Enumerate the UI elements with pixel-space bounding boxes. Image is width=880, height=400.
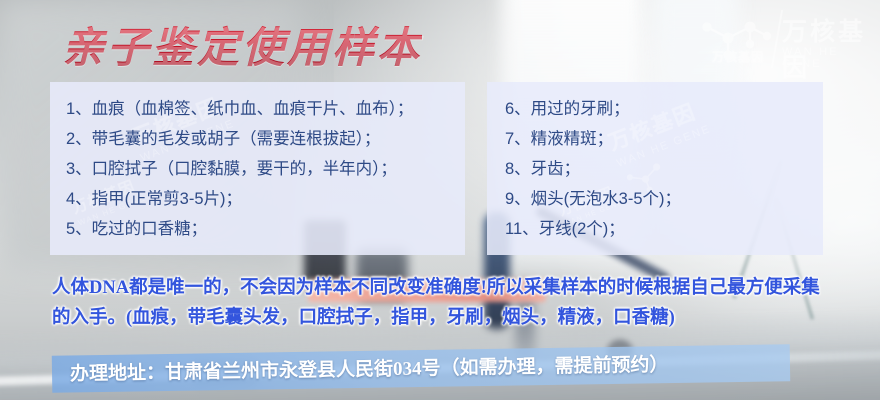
sample-list-left: 1、血痕（血棉签、纸巾血、血痕干片、血布）； 2、带毛囊的毛发或胡子（需要连根拔…: [50, 82, 465, 244]
paragraph-line-2: 的入手。(血痕，带毛囊头发，口腔拭子，指甲，牙刷，烟头，精液，口香糖): [52, 303, 842, 333]
list-item: 3、口腔拭子（口腔黏膜，要干的，半年内）；: [66, 154, 465, 184]
sample-list-right: 6、用过的牙刷； 7、精液精斑； 8、牙齿； 9、烟头(无泡水3-5个)； 11…: [487, 82, 823, 244]
explanation-paragraph: 人体DNA都是唯一的，不会因为样本不同改变准确度!所以采集样本的时候根据自己最方…: [52, 273, 842, 333]
list-item: 5、吃过的口香糖；: [66, 214, 465, 244]
paragraph-line-1: 人体DNA都是唯一的，不会因为样本不同改变准确度!所以采集样本的时候根据自己最方…: [52, 273, 842, 303]
list-item: 1、血痕（血棉签、纸巾血、血痕干片、血布）；: [66, 94, 465, 124]
list-item: 2、带毛囊的毛发或胡子（需要连根拔起）；: [66, 124, 465, 154]
list-item: 8、牙齿；: [505, 154, 823, 184]
sample-list-panel-right: 6、用过的牙刷； 7、精液精斑； 8、牙齿； 9、烟头(无泡水3-5个)； 11…: [487, 82, 823, 255]
page-title: 亲子鉴定使用样本: [62, 14, 422, 75]
sample-list-panel-left: 1、血痕（血棉签、纸巾血、血痕干片、血布）； 2、带毛囊的毛发或胡子（需要连根拔…: [50, 82, 465, 255]
list-item: 4、指甲(正常剪3-5片)；: [66, 184, 465, 214]
poster-canvas: 万核基因 万核基因 WAN HE GENE 亲子鉴定使用样本 1、血痕（血棉签、…: [0, 0, 880, 400]
list-item: 11、牙线(2个)；: [505, 214, 823, 244]
list-item: 7、精液精斑；: [505, 124, 823, 154]
list-item: 6、用过的牙刷；: [505, 94, 823, 124]
list-item: 9、烟头(无泡水3-5个)；: [505, 184, 823, 214]
